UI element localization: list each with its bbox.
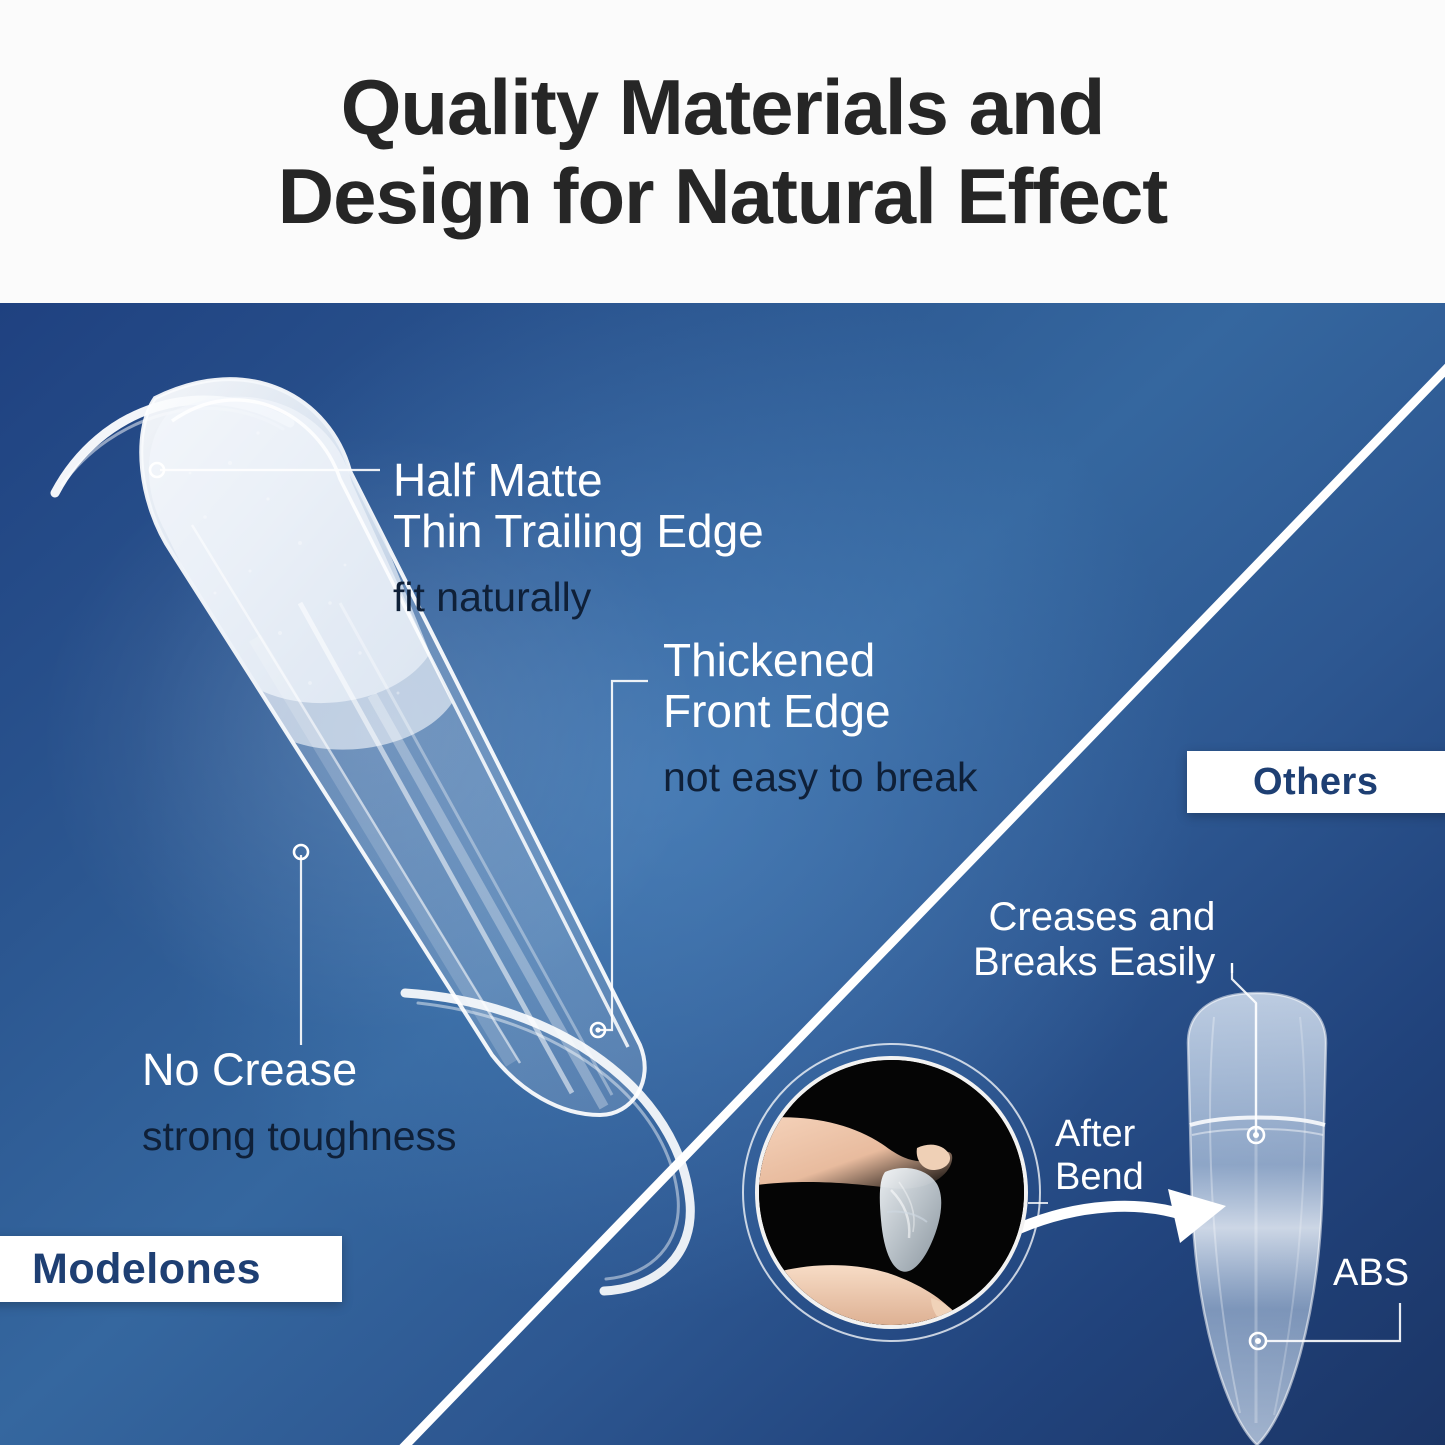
callout-creases-breaks-easily-title: Creases and Breaks Easily (973, 895, 1215, 985)
brand-badge-label: Modelones (32, 1245, 261, 1294)
leader-abs-label (1250, 1303, 1400, 1349)
competitor-badge-label: Others (1253, 761, 1378, 804)
leader-creases-breaks (1232, 963, 1264, 1143)
callout-half-matte-subtitle: fit naturally (393, 575, 764, 620)
callout-half-matte: Half Matte Thin Trailing Edge fit natura… (393, 455, 764, 620)
leader-thickened-front-edge (591, 681, 648, 1037)
callout-half-matte-title: Half Matte Thin Trailing Edge (393, 455, 764, 556)
comparison-stage: Modelones Others Half Matte Thin Trailin… (0, 303, 1445, 1445)
callout-creases-breaks-easily: Creases and Breaks Easily (973, 895, 1215, 985)
page-title-line-2: Design for Natural Effect (278, 152, 1167, 240)
callout-thickened-front-edge: Thickened Front Edge not easy to break (663, 635, 978, 800)
callout-no-crease: No Crease strong toughness (142, 1045, 457, 1159)
callout-thickened-front-edge-title: Thickened Front Edge (663, 635, 978, 736)
page-title-line-1: Quality Materials and (341, 63, 1105, 151)
brand-badge-modelones: Modelones (0, 1236, 342, 1302)
competitor-badge-others: Others (1187, 751, 1445, 813)
callout-abs-title: ABS (1333, 1253, 1409, 1295)
bend-demo-photo (755, 1056, 1028, 1329)
callout-no-crease-subtitle: strong toughness (142, 1114, 457, 1159)
abs-nail-shape (1188, 993, 1326, 1445)
page-header: Quality Materials and Design for Natural… (0, 0, 1445, 303)
callout-after-bend-title: After Bend (1055, 1113, 1144, 1200)
callout-abs: ABS (1333, 1253, 1409, 1295)
callout-after-bend: After Bend (1055, 1113, 1144, 1200)
leader-no-crease (294, 845, 308, 1045)
callout-no-crease-title: No Crease (142, 1045, 457, 1095)
leader-half-matte (150, 463, 380, 477)
callout-thickened-front-edge-subtitle: not easy to break (663, 755, 978, 800)
